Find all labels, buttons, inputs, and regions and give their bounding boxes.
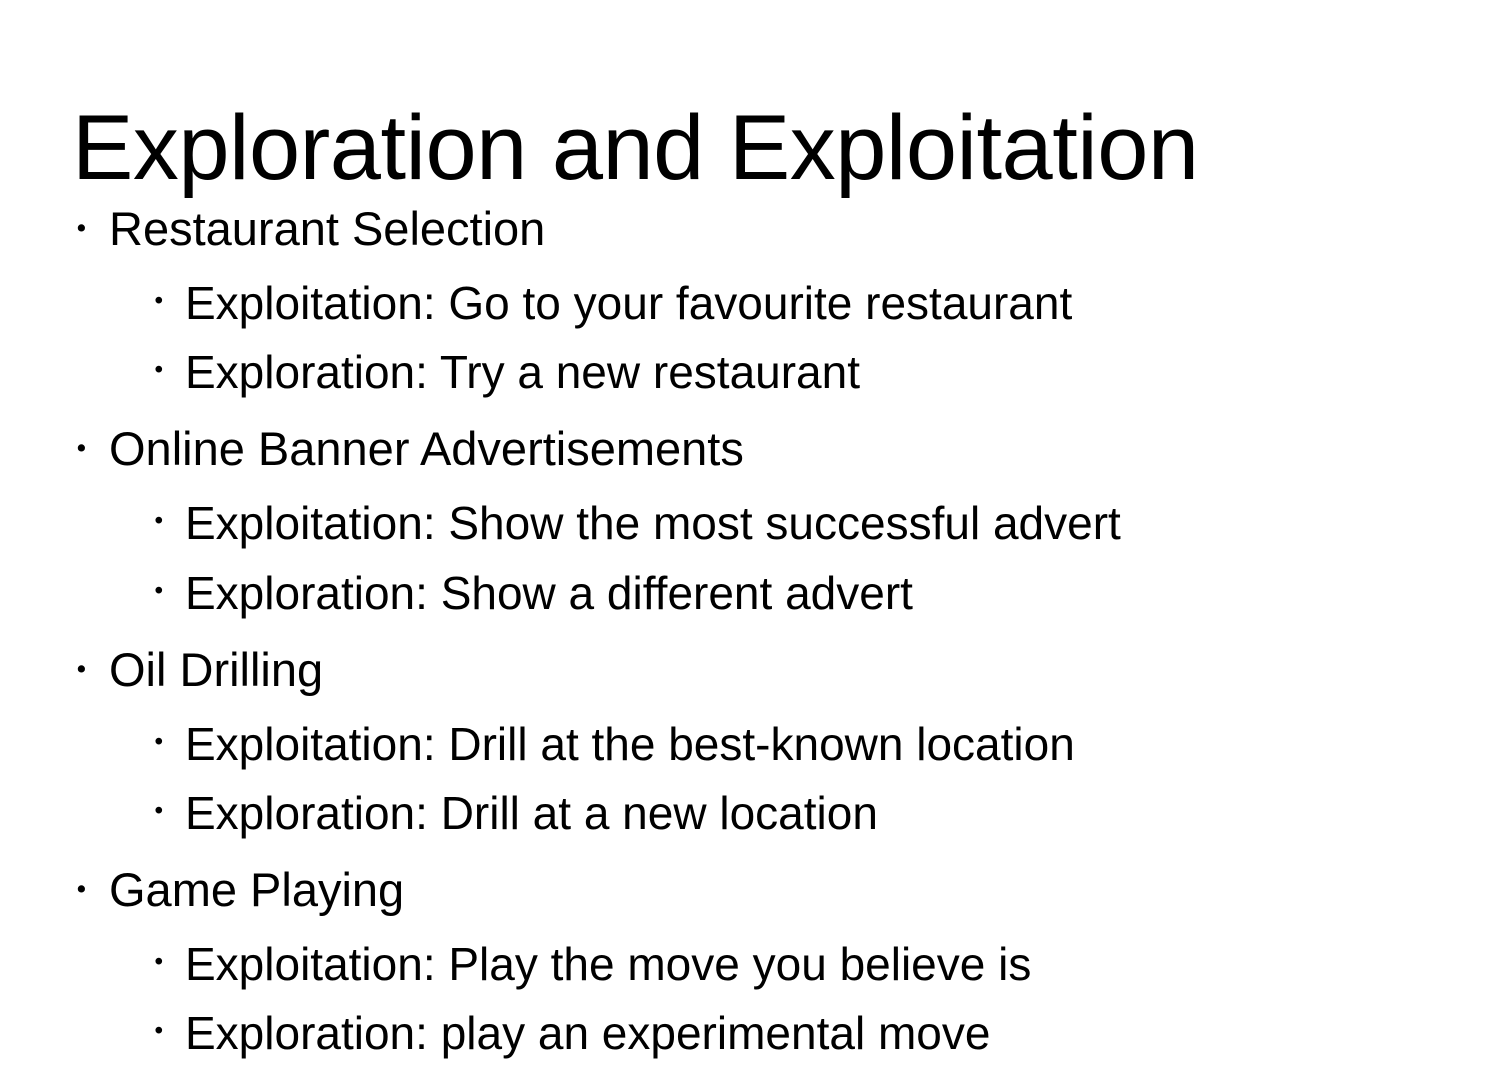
bullet-point-icon: • [152, 561, 185, 604]
bullet-text: Exploitation: Show the most successful a… [185, 491, 1500, 556]
slide-body-bullet-list: • Restaurant Selection • Exploitation: G… [60, 196, 1460, 1071]
bullet-point-icon: • [74, 196, 109, 241]
bullet-text: Exploitation: Drill at the best-known lo… [185, 712, 1500, 777]
bullet-item-level2: • Exploration: Show a different advert [60, 561, 1500, 626]
bullet-item-level1: • Oil Drilling [60, 637, 1474, 703]
bullet-item-level1: • Restaurant Selection [60, 196, 1474, 262]
bullet-point-icon: • [152, 340, 185, 383]
bullet-item-level2: • Exploitation: Drill at the best-known … [60, 712, 1500, 777]
bullet-item-level2: • Exploration: Drill at a new location [60, 781, 1500, 846]
bullet-text: Exploitation: Play the move you believe … [185, 932, 1500, 997]
bullet-point-icon: • [74, 416, 109, 461]
bullet-point-icon: • [152, 712, 185, 755]
bullet-text: Oil Drilling [109, 637, 1474, 703]
presentation-slide: Exploration and Exploitation • Restauran… [0, 0, 1500, 1080]
bullet-text: Exploitation: Go to your favourite resta… [185, 271, 1500, 336]
bullet-text: Exploration: Try a new restaurant [185, 340, 1500, 405]
bullet-item-level2: • Exploitation: Show the most successful… [60, 491, 1500, 556]
bullet-item-level1: • Game Playing [60, 857, 1474, 923]
slide-title: Exploration and Exploitation [72, 100, 1432, 197]
bullet-text: Exploration: play an experimental move [185, 1001, 1500, 1066]
bullet-text: Exploration: Show a different advert [185, 561, 1500, 626]
bullet-point-icon: • [152, 491, 185, 534]
bullet-item-level2: • Exploration: Try a new restaurant [60, 340, 1500, 405]
bullet-text: Restaurant Selection [109, 196, 1474, 262]
bullet-text: Online Banner Advertisements [109, 416, 1474, 482]
bullet-text: Game Playing [109, 857, 1474, 923]
bullet-point-icon: • [152, 781, 185, 824]
bullet-point-icon: • [152, 932, 185, 975]
bullet-point-icon: • [152, 1001, 185, 1044]
bullet-text: Exploration: Drill at a new location [185, 781, 1500, 846]
bullet-item-level2: • Exploitation: Go to your favourite res… [60, 271, 1500, 336]
bullet-item-level1: • Online Banner Advertisements [60, 416, 1474, 482]
bullet-item-level2: • Exploration: play an experimental move [60, 1001, 1500, 1066]
bullet-item-level2: • Exploitation: Play the move you believ… [60, 932, 1500, 997]
bullet-point-icon: • [74, 857, 109, 902]
bullet-point-icon: • [152, 271, 185, 314]
bullet-point-icon: • [74, 637, 109, 682]
